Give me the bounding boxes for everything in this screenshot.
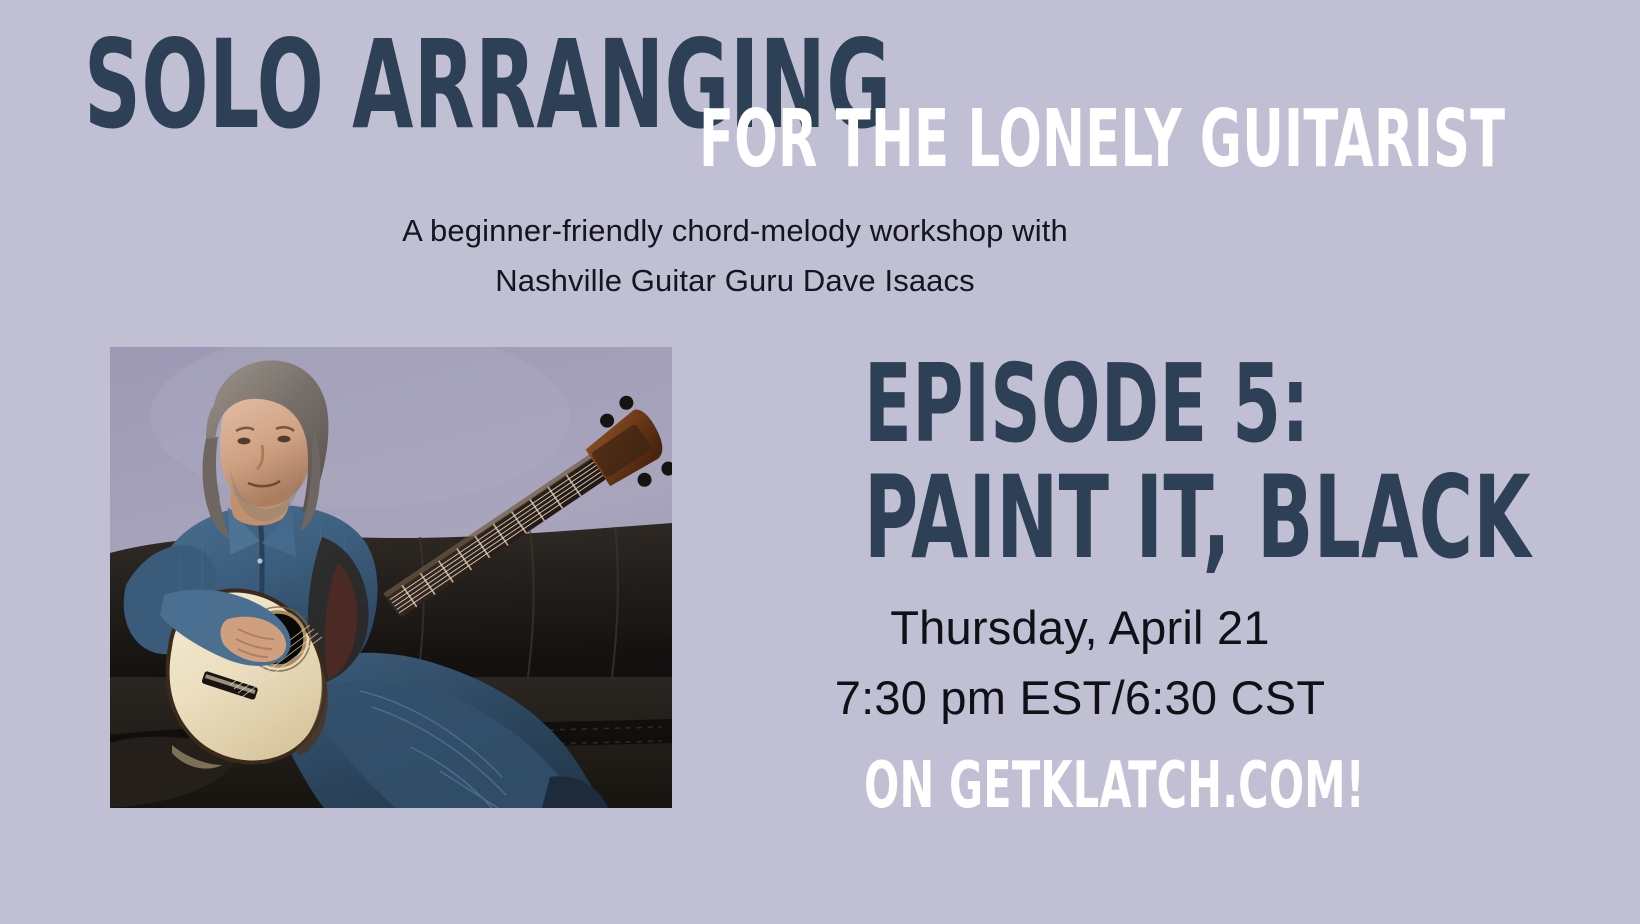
subtitle-line-2: Nashville Guitar Guru Dave Isaacs — [0, 256, 1470, 306]
subtitle-line-1: A beginner-friendly chord-melody worksho… — [0, 206, 1470, 256]
subtitle: A beginner-friendly chord-melody worksho… — [0, 206, 1470, 306]
event-time: 7:30 pm EST/6:30 CST — [780, 668, 1380, 728]
episode-number: EPISODE 5: — [864, 352, 1296, 458]
headline-secondary: FOR THE LONELY GUITARIST — [699, 100, 1505, 179]
event-details: EPISODE 5: PAINT IT, BLACK Thursday, Apr… — [780, 352, 1380, 818]
instructor-photo — [110, 347, 672, 808]
poster-canvas: SOLO ARRANGING FOR THE LONELY GUITARIST … — [0, 0, 1640, 924]
event-date: Thursday, April 21 — [780, 598, 1380, 658]
episode-title: PAINT IT, BLACK — [864, 462, 1296, 574]
cta-website[interactable]: ON GETKLATCH.COM! — [864, 754, 1296, 818]
